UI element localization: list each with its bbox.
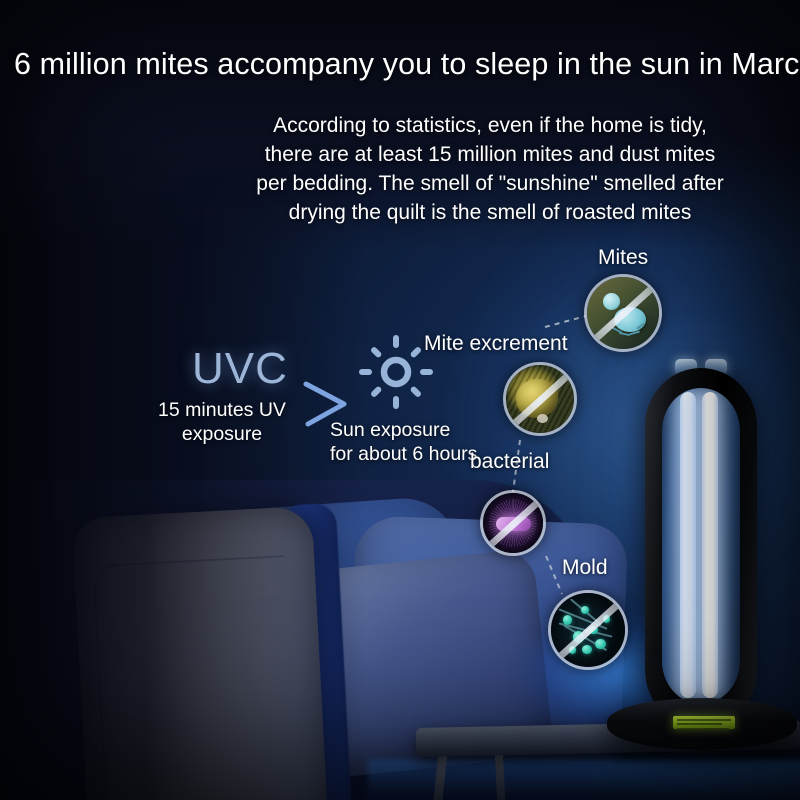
subtitle-line-4: drying the quilt is the smell of roasted…: [190, 199, 790, 228]
lamp-indicator-label: [673, 716, 735, 729]
sun-caption-line-1: Sun exposure: [330, 418, 530, 442]
label-bacterial: bacterial: [470, 450, 549, 474]
uvc-caption-line-2: exposure: [132, 422, 312, 446]
poster-canvas: 6 million mites accompany you to sleep i…: [0, 0, 800, 800]
subtitle-block: According to statistics, even if the hom…: [190, 112, 790, 228]
no-mites-icon: [584, 274, 662, 352]
uv-tube-1: [680, 392, 696, 698]
no-mite-excrement-icon: [503, 362, 577, 436]
uvc-caption-line-1: 15 minutes UV: [132, 398, 312, 422]
label-excrement: Mite excrement: [424, 332, 568, 356]
subtitle-line-1: According to statistics, even if the hom…: [190, 112, 790, 141]
subtitle-line-2: there are at least 15 million mites and …: [190, 141, 790, 170]
lamp-window: [662, 388, 740, 704]
subtitle-line-3: per bedding. The smell of "sunshine" sme…: [190, 170, 790, 199]
sun-icon: [358, 334, 434, 410]
no-bacteria-icon: [480, 490, 546, 556]
no-mold-icon: [548, 590, 628, 670]
uvc-title: UVC: [192, 344, 288, 394]
uv-sterilizer-lamp: [645, 368, 757, 728]
label-mold: Mold: [562, 556, 608, 580]
uv-tube-2: [702, 392, 718, 698]
floor-light-strip: [368, 760, 800, 800]
label-mites: Mites: [598, 246, 648, 270]
page-title: 6 million mites accompany you to sleep i…: [14, 48, 794, 82]
uvc-caption: 15 minutes UV exposure: [132, 398, 312, 447]
